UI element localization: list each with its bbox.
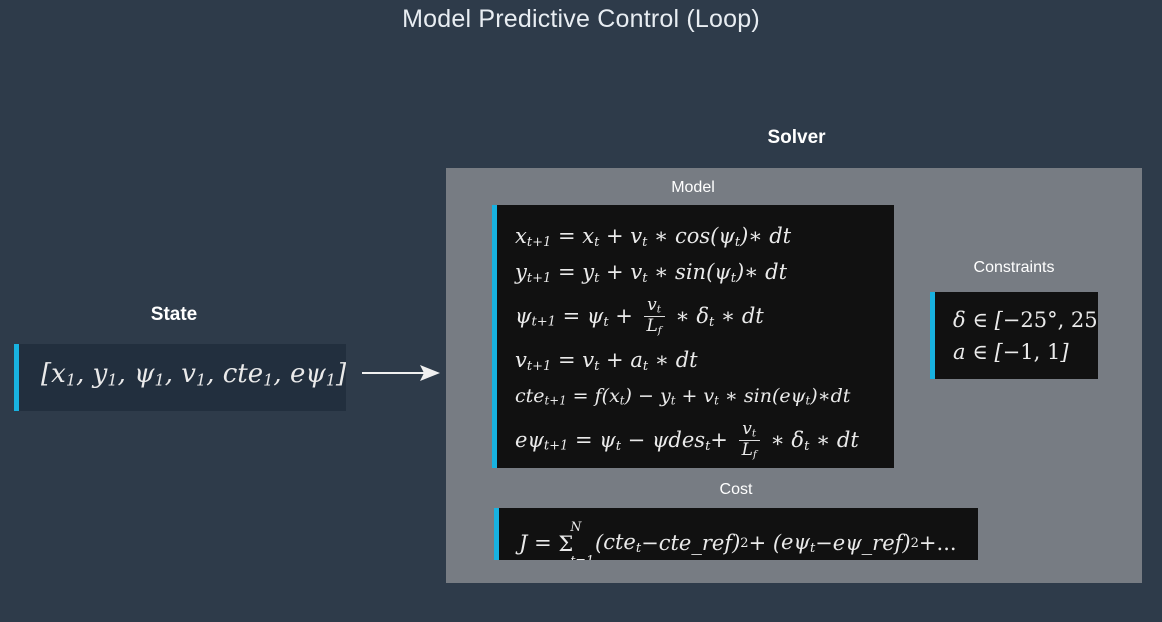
page-title: Model Predictive Control (Loop) (0, 5, 1162, 34)
constraint-a: a ∈ [−1, 1] (953, 336, 1098, 368)
constraints-box: δ ∈ [−25°, 25°] a ∈ [−1, 1] (930, 292, 1098, 379)
model-equation-x: xt+1 = xt + vt ∗ cos(ψt)∗ dt (515, 219, 859, 255)
model-equation-y: yt+1 = yt + vt ∗ sin(ψt)∗ dt (515, 255, 859, 291)
cost-box: J = NΣt=1(ctet − cte_ref)2 + (eψt − eψ_r… (494, 508, 978, 560)
constraint-delta: δ ∈ [−25°, 25°] (953, 304, 1098, 336)
model-equation-cte: ctet+1 = f(xt) − yt + vt ∗ sin(eψt)∗dt (515, 379, 859, 415)
state-vector: [x1, y1, ψ1, v1, cte1, eψ1] (41, 361, 346, 389)
state-label: State (0, 304, 348, 326)
model-equations: xt+1 = xt + vt ∗ cos(ψt)∗ dt yt+1 = yt +… (515, 219, 859, 467)
state-box: [x1, y1, ψ1, v1, cte1, eψ1] (14, 344, 346, 411)
model-box: xt+1 = xt + vt ∗ cos(ψt)∗ dt yt+1 = yt +… (492, 205, 894, 468)
solver-label: Solver (700, 127, 893, 149)
model-label: Model (493, 179, 893, 197)
model-equation-epsi: eψt+1 = ψt − ψdest+ vt Lf ∗ δt ∗ dt (515, 415, 859, 467)
diagram-canvas: Model Predictive Control (Loop) Solver M… (0, 0, 1162, 622)
model-equation-v: vt+1 = vt + at ∗ dt (515, 343, 859, 379)
model-equation-psi: ψt+1 = ψt + vt Lf ∗ δt ∗ dt (515, 291, 859, 343)
state-to-solver-arrow (362, 363, 440, 383)
constraints-equations: δ ∈ [−25°, 25°] a ∈ [−1, 1] (953, 304, 1098, 368)
constraints-label: Constraints (930, 259, 1098, 277)
cost-label: Cost (495, 481, 977, 499)
cost-equation: J = NΣt=1(ctet − cte_ref)2 + (eψt − eψ_r… (519, 520, 957, 560)
